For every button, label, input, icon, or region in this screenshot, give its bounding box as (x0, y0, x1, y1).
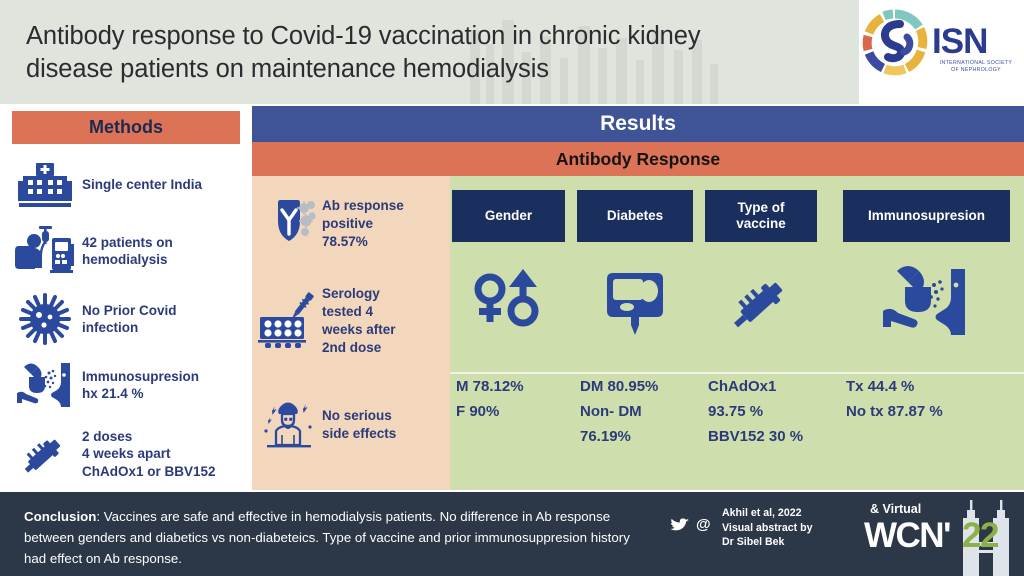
methods-item-label: 42 patients on hemodialysis (82, 234, 173, 269)
highlight-label: Ab response positive 78.57% (322, 197, 404, 251)
methods-column: Methods Single center Indi (0, 104, 250, 490)
isn-tagline: INTERNATIONAL SOCIETY OF NEPHROLOGY (934, 60, 1018, 74)
conclusion-body: : Vaccines are safe and effective in hem… (24, 509, 630, 566)
microplate-pipette-icon (256, 291, 322, 351)
conclusion-text: Conclusion: Vaccines are safe and effect… (24, 506, 634, 569)
pill-taking-icon (843, 248, 1010, 356)
page-title: Antibody response to Covid-19 vaccinatio… (26, 20, 786, 86)
hospital-icon (8, 161, 82, 209)
antibody-response-subheading: Antibody Response (252, 142, 1024, 176)
methods-item-no-prior-covid: No Prior Covid infection (8, 290, 248, 348)
category-header-diabetes: Diabetes (577, 190, 693, 242)
category-values-gender: M 78.12% F 90% (456, 374, 576, 474)
isn-wordmark: ISN (932, 22, 987, 62)
category-values-diabetes: DM 80.95% Non- DM 76.19% (580, 374, 705, 474)
methods-item-doses: 2 doses 4 weeks apart ChAdOx1 or BBV152 (8, 422, 248, 486)
credit-icons: @ (670, 518, 718, 538)
methods-item-single-center: Single center India (8, 156, 248, 214)
methods-item-label: Immunosupresion hx 21.4 % (82, 368, 199, 403)
no-side-effects-icon (256, 397, 322, 453)
footer-bar: Conclusion: Vaccines are safe and effect… (0, 492, 1024, 576)
highlight-serology: Serology tested 4 weeks after 2nd dose (256, 274, 450, 368)
results-divider (450, 372, 1024, 374)
isn-logo: ISN INTERNATIONAL SOCIETY OF NEPHROLOGY (860, 8, 1018, 96)
highlight-label: No serious side effects (322, 407, 396, 443)
pill-taking-icon (8, 359, 82, 411)
dialysis-chair-icon (8, 224, 82, 278)
twitter-icon (670, 518, 690, 535)
highlight-no-side-effects: No serious side effects (256, 388, 450, 462)
gender-symbols-icon (452, 248, 565, 356)
category-values-immunosupresion: Tx 44.4 % No tx 87.87 % (846, 374, 1021, 474)
wcn-virtual-label: & Virtual (870, 502, 921, 516)
methods-item-label: No Prior Covid infection (82, 302, 177, 337)
results-highlights-column: Ab response positive 78.57% (252, 176, 450, 490)
syringe-icon (705, 248, 817, 356)
methods-item-label: 2 doses 4 weeks apart ChAdOx1 or BBV152 (82, 428, 216, 481)
wcn-logo: & Virtual WCN' 22 (858, 496, 1024, 576)
header-banner: Antibody response to Covid-19 vaccinatio… (0, 0, 1024, 104)
methods-item-patients: 42 patients on hemodialysis (8, 220, 248, 282)
results-categories-column: Gender Diabetes Type of vaccine Immunosu… (450, 176, 1024, 490)
category-header-gender: Gender (452, 190, 565, 242)
at-symbol-icon: @ (696, 516, 711, 533)
glucose-meter-icon (577, 248, 693, 356)
virus-icon (8, 292, 82, 346)
results-heading: Results (252, 106, 1024, 142)
category-values-type-of-vaccine: ChAdOx1 93.75 % BBV152 30 % (708, 374, 843, 474)
category-header-type-of-vaccine: Type of vaccine (705, 190, 817, 242)
conclusion-label: Conclusion (24, 509, 96, 524)
isn-logo-plate: ISN INTERNATIONAL SOCIETY OF NEPHROLOGY (859, 0, 1024, 104)
highlight-label: Serology tested 4 weeks after 2nd dose (322, 285, 396, 357)
isn-circle-icon (860, 8, 930, 78)
methods-item-immunosuppression: Immunosupresion hx 21.4 % (8, 356, 248, 414)
antibody-shield-icon (256, 196, 322, 252)
syringe-icon (8, 428, 82, 480)
visual-abstract-poster: Antibody response to Covid-19 vaccinatio… (0, 0, 1024, 576)
methods-heading: Methods (12, 111, 240, 144)
credit-text: Akhil et al, 2022 Visual abstract by Dr … (722, 506, 852, 550)
wcn-year: 22 (962, 516, 998, 556)
category-header-immunosupresion: Immunosupresion (843, 190, 1010, 242)
methods-item-label: Single center India (82, 176, 202, 194)
wcn-name: WCN' (864, 516, 950, 556)
highlight-ab-response: Ab response positive 78.57% (256, 184, 450, 264)
